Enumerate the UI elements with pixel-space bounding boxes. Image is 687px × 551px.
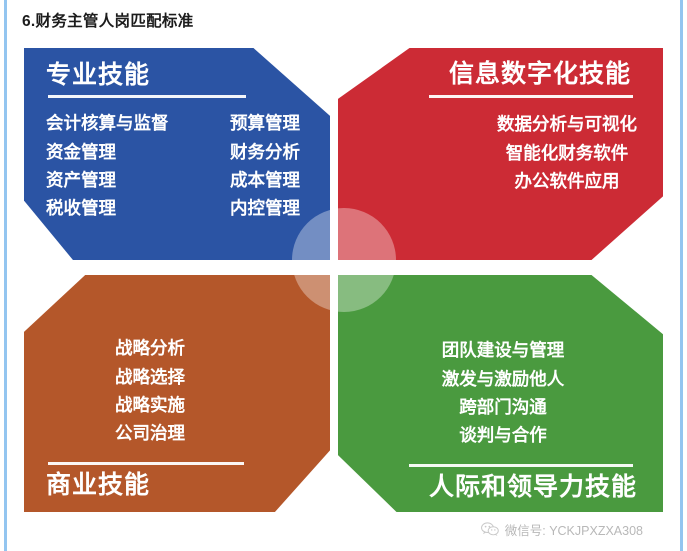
list-item: 谈判与合作 <box>369 421 637 449</box>
wechat-icon <box>481 522 499 537</box>
list-item: 激发与激励他人 <box>369 365 637 393</box>
quadrant-title-leadership: 人际和领导力技能 <box>429 474 637 500</box>
skills-matrix: 专业技能 会计核算与监督 资金管理 资产管理 税收管理 预算管理 财务分析 成本… <box>24 48 663 512</box>
wechat-id-label: 微信号: YCKJPXZXA308 <box>505 520 643 539</box>
quadrant-items-professional: 会计核算与监督 资金管理 资产管理 税收管理 预算管理 财务分析 成本管理 内控… <box>46 109 330 222</box>
quadrant-digital-skills[interactable]: 信息数字化技能 数据分析与可视化 智能化财务软件 办公软件应用 <box>338 48 663 260</box>
title-underline-blue <box>48 95 246 98</box>
list-item: 数据分析与可视化 <box>497 110 637 138</box>
quadrant-title-professional: 专业技能 <box>46 62 330 88</box>
left-page-rule <box>4 0 7 551</box>
list-item: 办公软件应用 <box>497 167 637 195</box>
page-title: 6.财务主管人岗匹配标准 <box>22 9 194 31</box>
title-underline-red <box>429 95 633 98</box>
list-item: 战略选择 <box>46 363 254 391</box>
quadrant-leadership-skills[interactable]: 团队建设与管理 激发与激励他人 跨部门沟通 谈判与合作 人际和领导力技能 <box>338 275 663 512</box>
quadrant-title-business: 商业技能 <box>46 472 330 498</box>
right-page-rule <box>680 0 683 551</box>
list-item: 战略实施 <box>46 391 254 419</box>
list-item: 跨部门沟通 <box>369 393 637 421</box>
quadrant-items-digital: 数据分析与可视化 智能化财务软件 办公软件应用 <box>497 110 637 195</box>
quadrant-business-skills[interactable]: 战略分析 战略选择 战略实施 公司治理 商业技能 <box>24 275 330 512</box>
quadrant-professional-skills[interactable]: 专业技能 会计核算与监督 资金管理 资产管理 税收管理 预算管理 财务分析 成本… <box>24 48 330 260</box>
quadrant-title-digital: 信息数字化技能 <box>449 61 631 87</box>
list-item: 成本管理 <box>230 166 300 194</box>
list-item: 公司治理 <box>46 419 254 447</box>
list-item: 财务分析 <box>230 138 300 166</box>
title-underline-orange <box>48 462 244 465</box>
list-item: 预算管理 <box>230 109 300 137</box>
list-item: 智能化财务软件 <box>497 139 637 167</box>
title-underline-green <box>409 464 633 467</box>
quadrant-items-leadership: 团队建设与管理 激发与激励他人 跨部门沟通 谈判与合作 <box>369 336 637 449</box>
list-item: 团队建设与管理 <box>369 336 637 364</box>
list-item: 会计核算与监督 <box>46 109 212 137</box>
list-item: 资金管理 <box>46 138 212 166</box>
list-item: 内控管理 <box>230 194 300 222</box>
quadrant-items-business: 战略分析 战略选择 战略实施 公司治理 <box>46 334 254 447</box>
list-item: 战略分析 <box>46 334 254 362</box>
watermark-footer: 微信号: YCKJPXZXA308 <box>481 520 643 539</box>
list-item: 税收管理 <box>46 194 212 222</box>
list-item: 资产管理 <box>46 166 212 194</box>
